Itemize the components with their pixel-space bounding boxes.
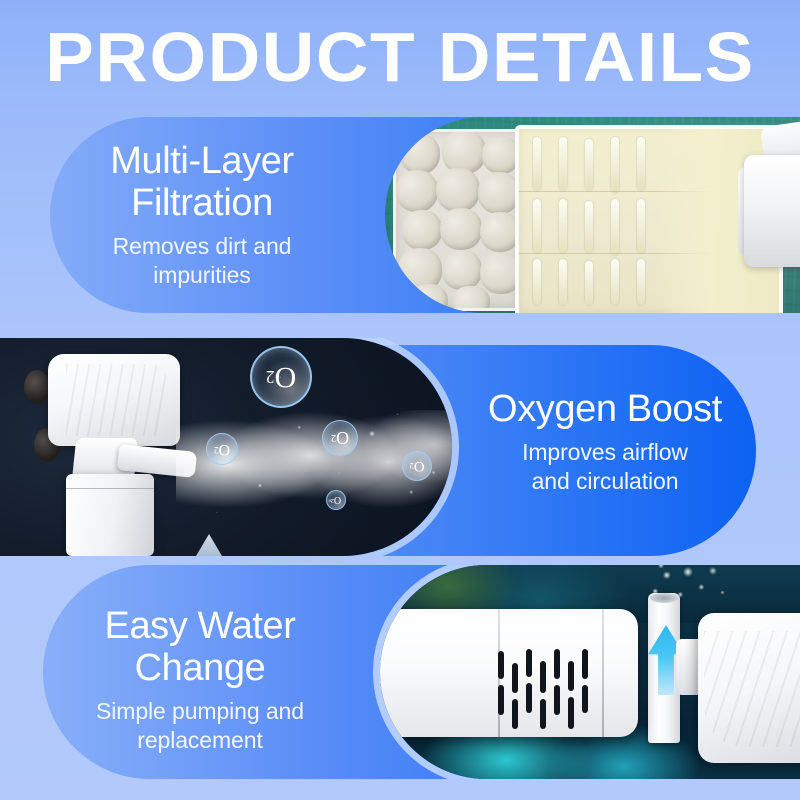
feature-title: Oxygen Boost bbox=[455, 388, 755, 430]
feature-subtitle: Simple pumping and replacement bbox=[55, 697, 345, 755]
bubble-subscript: 2 bbox=[266, 367, 275, 388]
oxygen-bubble-icon: O2 bbox=[250, 346, 312, 408]
intake-grille bbox=[498, 649, 598, 733]
feature-text-easy-water-change: Easy Water Change Simple pumping and rep… bbox=[55, 605, 345, 755]
pump-fins bbox=[66, 364, 166, 436]
feature-title: Multi-Layer Filtration bbox=[62, 140, 342, 224]
oxygen-bubble-icon: O2 bbox=[206, 433, 238, 465]
bubble-label: O bbox=[219, 440, 231, 458]
easy-water-change-photo bbox=[380, 565, 800, 779]
bubble-label: O bbox=[336, 428, 349, 449]
ceramic-ball-media-box bbox=[393, 129, 521, 311]
oxygen-bubble-icon: O2 bbox=[402, 451, 432, 481]
bubble-subscript: 2 bbox=[331, 433, 336, 444]
oxygen-bubble-icon: O2 bbox=[322, 420, 358, 456]
feature-text-oxygen-boost: Oxygen Boost Improves airflow and circul… bbox=[455, 388, 755, 496]
feature-text-multi-layer-filtration: Multi-Layer Filtration Removes dirt and … bbox=[62, 140, 342, 290]
bubble-label: O bbox=[275, 360, 297, 394]
filtration-photo bbox=[385, 117, 800, 313]
bubble-label: O bbox=[414, 458, 425, 475]
bubble-label: O bbox=[334, 495, 341, 506]
page-title: PRODUCT DETAILS bbox=[0, 18, 800, 96]
pump-barrel bbox=[744, 155, 800, 267]
bubble-subscript: 2 bbox=[214, 444, 219, 454]
oxygen-bubble-icon: O2 bbox=[326, 490, 346, 510]
pump-seam bbox=[602, 609, 604, 737]
infographic-canvas: PRODUCT DETAILS bbox=[0, 0, 800, 800]
pump-housing bbox=[736, 117, 800, 313]
pump-base bbox=[66, 474, 154, 556]
bubble-subscript: 2 bbox=[331, 497, 334, 503]
pump-fins bbox=[704, 631, 800, 747]
secondary-pump-head bbox=[698, 613, 800, 763]
suction-cup-icon bbox=[24, 370, 50, 404]
oxygen-boost-photo: O2 O2 O2 O2 O2 bbox=[0, 338, 452, 556]
feature-title: Easy Water Change bbox=[55, 605, 345, 689]
bubble-subscript: 2 bbox=[409, 461, 413, 471]
feature-subtitle: Removes dirt and impurities bbox=[62, 232, 342, 290]
feature-subtitle: Improves airflow and circulation bbox=[455, 438, 755, 496]
